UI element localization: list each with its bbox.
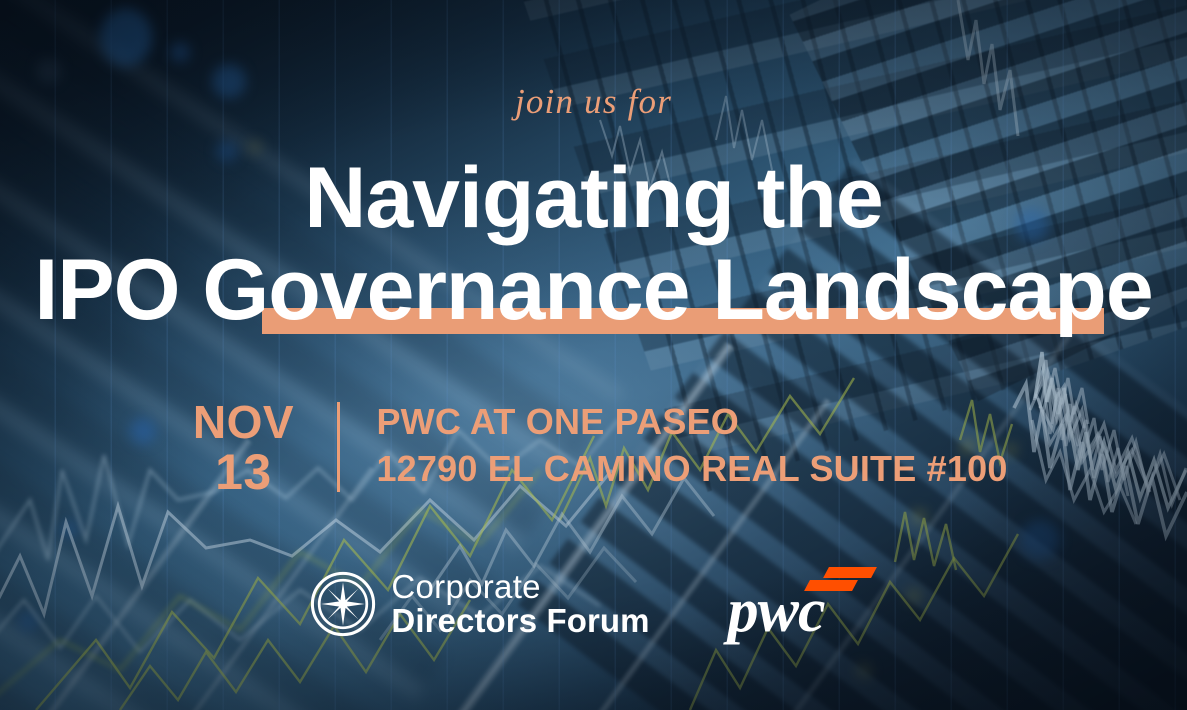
venue-address: 12790 EL CAMINO REAL SUITE #100: [376, 445, 1007, 492]
event-date: NOV 13: [179, 398, 337, 498]
pwc-chevron-icon: [823, 567, 877, 578]
cdf-line-1: Corporate: [391, 570, 649, 604]
pwc-wordmark: pwc: [728, 580, 825, 642]
cdf-wordmark: Corporate Directors Forum: [391, 570, 649, 637]
title-line-2: IPO Governance Landscape: [34, 242, 1152, 338]
venue-name: PWC AT ONE PASEO: [376, 398, 1007, 445]
kicker-text: join us for: [0, 82, 1187, 122]
pwc-logo: pwc: [728, 566, 878, 642]
event-details: NOV 13 PWC AT ONE PASEO 12790 EL CAMINO …: [0, 398, 1187, 498]
logo-row: Corporate Directors Forum pwc: [0, 566, 1187, 642]
title-block: Navigating the IPO Governance Landscape: [0, 152, 1187, 336]
title-line-2-wrapper: IPO Governance Landscape: [34, 244, 1152, 336]
event-venue: PWC AT ONE PASEO 12790 EL CAMINO REAL SU…: [340, 398, 1007, 498]
compass-rose-icon: [309, 570, 377, 638]
date-month: NOV: [179, 398, 307, 446]
cdf-line-2: Directors Forum: [391, 604, 649, 638]
event-invitation-poster: join us for Navigating the IPO Governanc…: [0, 0, 1187, 710]
date-day: 13: [179, 446, 307, 498]
poster-content: join us for Navigating the IPO Governanc…: [0, 0, 1187, 710]
title-line-1: Navigating the: [0, 152, 1187, 244]
corporate-directors-forum-logo: Corporate Directors Forum: [309, 570, 649, 638]
